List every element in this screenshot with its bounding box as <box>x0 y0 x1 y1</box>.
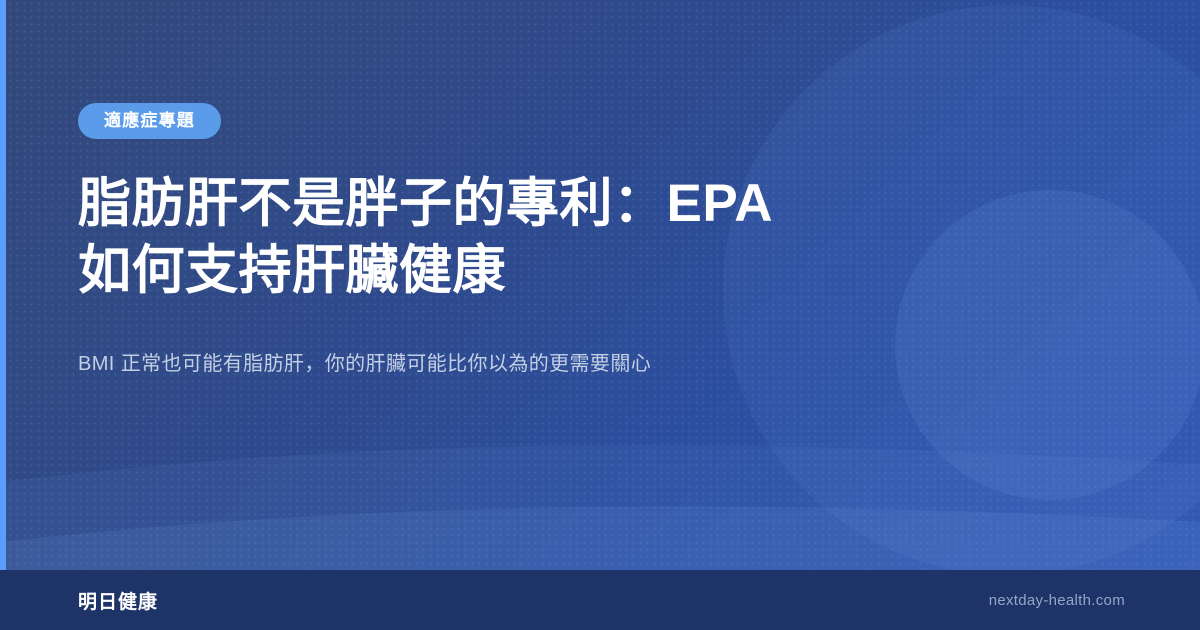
card-content: 適應症專題 脂肪肝不是胖子的專利：EPA 如何支持肝臟健康 BMI 正常也可能有… <box>78 103 908 380</box>
page-title-line-1: 脂肪肝不是胖子的專利：EPA <box>78 171 868 238</box>
page-subtitle: BMI 正常也可能有脂肪肝，你的肝臟可能比你以為的更需要關心 <box>78 348 908 380</box>
brand-name: 明日健康 <box>78 587 158 614</box>
page-title-line-2: 如何支持肝臟健康 <box>78 238 868 305</box>
social-share-card: 適應症專題 脂肪肝不是胖子的專利：EPA 如何支持肝臟健康 BMI 正常也可能有… <box>0 0 1200 630</box>
page-title: 脂肪肝不是胖子的專利：EPA 如何支持肝臟健康 <box>78 171 868 305</box>
card-footer: 明日健康 nextday-health.com <box>0 570 1200 630</box>
left-accent-bar <box>0 0 6 630</box>
site-url: nextday-health.com <box>989 592 1125 609</box>
category-badge: 適應症專題 <box>78 103 221 139</box>
